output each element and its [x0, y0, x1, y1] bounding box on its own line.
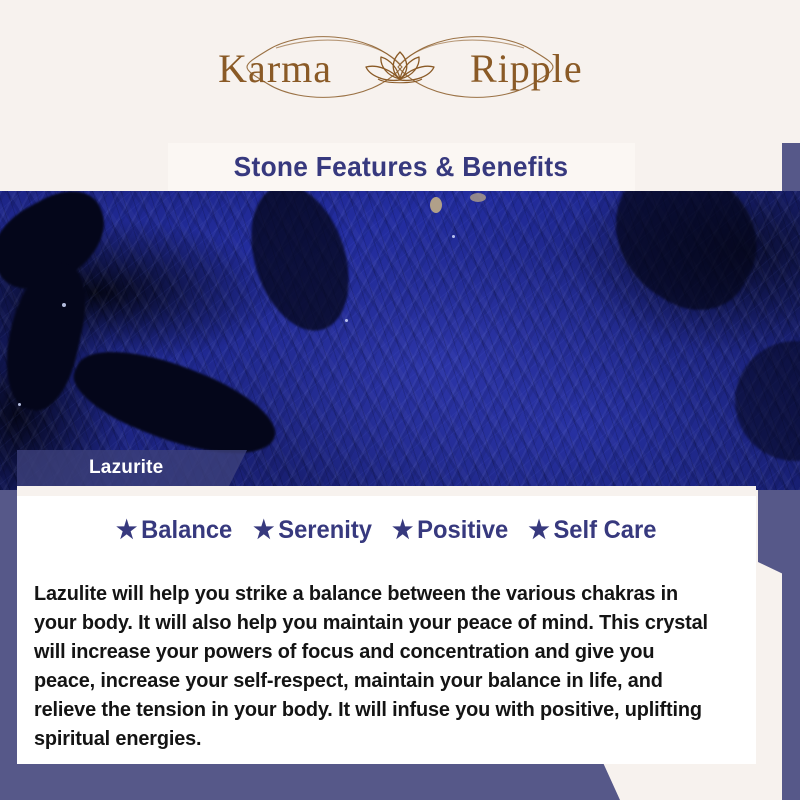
star-icon: ★	[253, 518, 274, 543]
page-title: Stone Features & Benefits	[234, 151, 569, 183]
keyword-positive: ★ Positive	[392, 516, 508, 545]
stone-mineral-speck	[430, 197, 442, 213]
content-panel: ★ Balance ★ Serenity ★ Positive ★ Self C…	[17, 486, 756, 764]
star-icon: ★	[392, 518, 413, 543]
title-band: Stone Features & Benefits	[168, 143, 635, 191]
keyword-serenity: ★ Serenity	[253, 516, 372, 545]
keyword-self-care: ★ Self Care	[528, 516, 656, 545]
stone-glint	[18, 403, 21, 406]
keyword-label: Positive	[417, 516, 508, 545]
stone-info-card: Karma Ripple Stone Features & Benefits	[0, 0, 800, 800]
stone-name: Lazurite	[17, 457, 163, 479]
brand-name-right: Ripple	[470, 46, 583, 91]
brand-logo[interactable]: Karma Ripple	[180, 26, 620, 108]
stone-description: Lazulite will help you strike a balance …	[34, 579, 719, 754]
brand-logo-graphic: Karma Ripple	[180, 26, 620, 108]
decor-right-tab	[758, 490, 800, 582]
stone-photo	[0, 191, 800, 490]
keyword-label: Serenity	[278, 516, 372, 545]
header: Karma Ripple	[0, 0, 800, 143]
stone-glint	[452, 235, 455, 238]
lotus-flower-icon	[366, 52, 434, 83]
keyword-balance: ★ Balance	[116, 516, 232, 545]
content-top-strip	[17, 486, 756, 496]
keyword-label: Balance	[141, 516, 232, 545]
keyword-list: ★ Balance ★ Serenity ★ Positive ★ Self C…	[17, 516, 756, 545]
stone-mineral-speck	[470, 193, 486, 202]
page-sheet: Karma Ripple Stone Features & Benefits	[0, 0, 800, 800]
stone-name-banner: Lazurite	[17, 450, 247, 486]
keyword-label: Self Care	[553, 516, 656, 545]
brand-name-left: Karma	[218, 46, 332, 91]
star-icon: ★	[528, 518, 549, 543]
stone-glint	[345, 319, 348, 322]
stone-glint	[62, 303, 66, 307]
star-icon: ★	[116, 518, 137, 543]
